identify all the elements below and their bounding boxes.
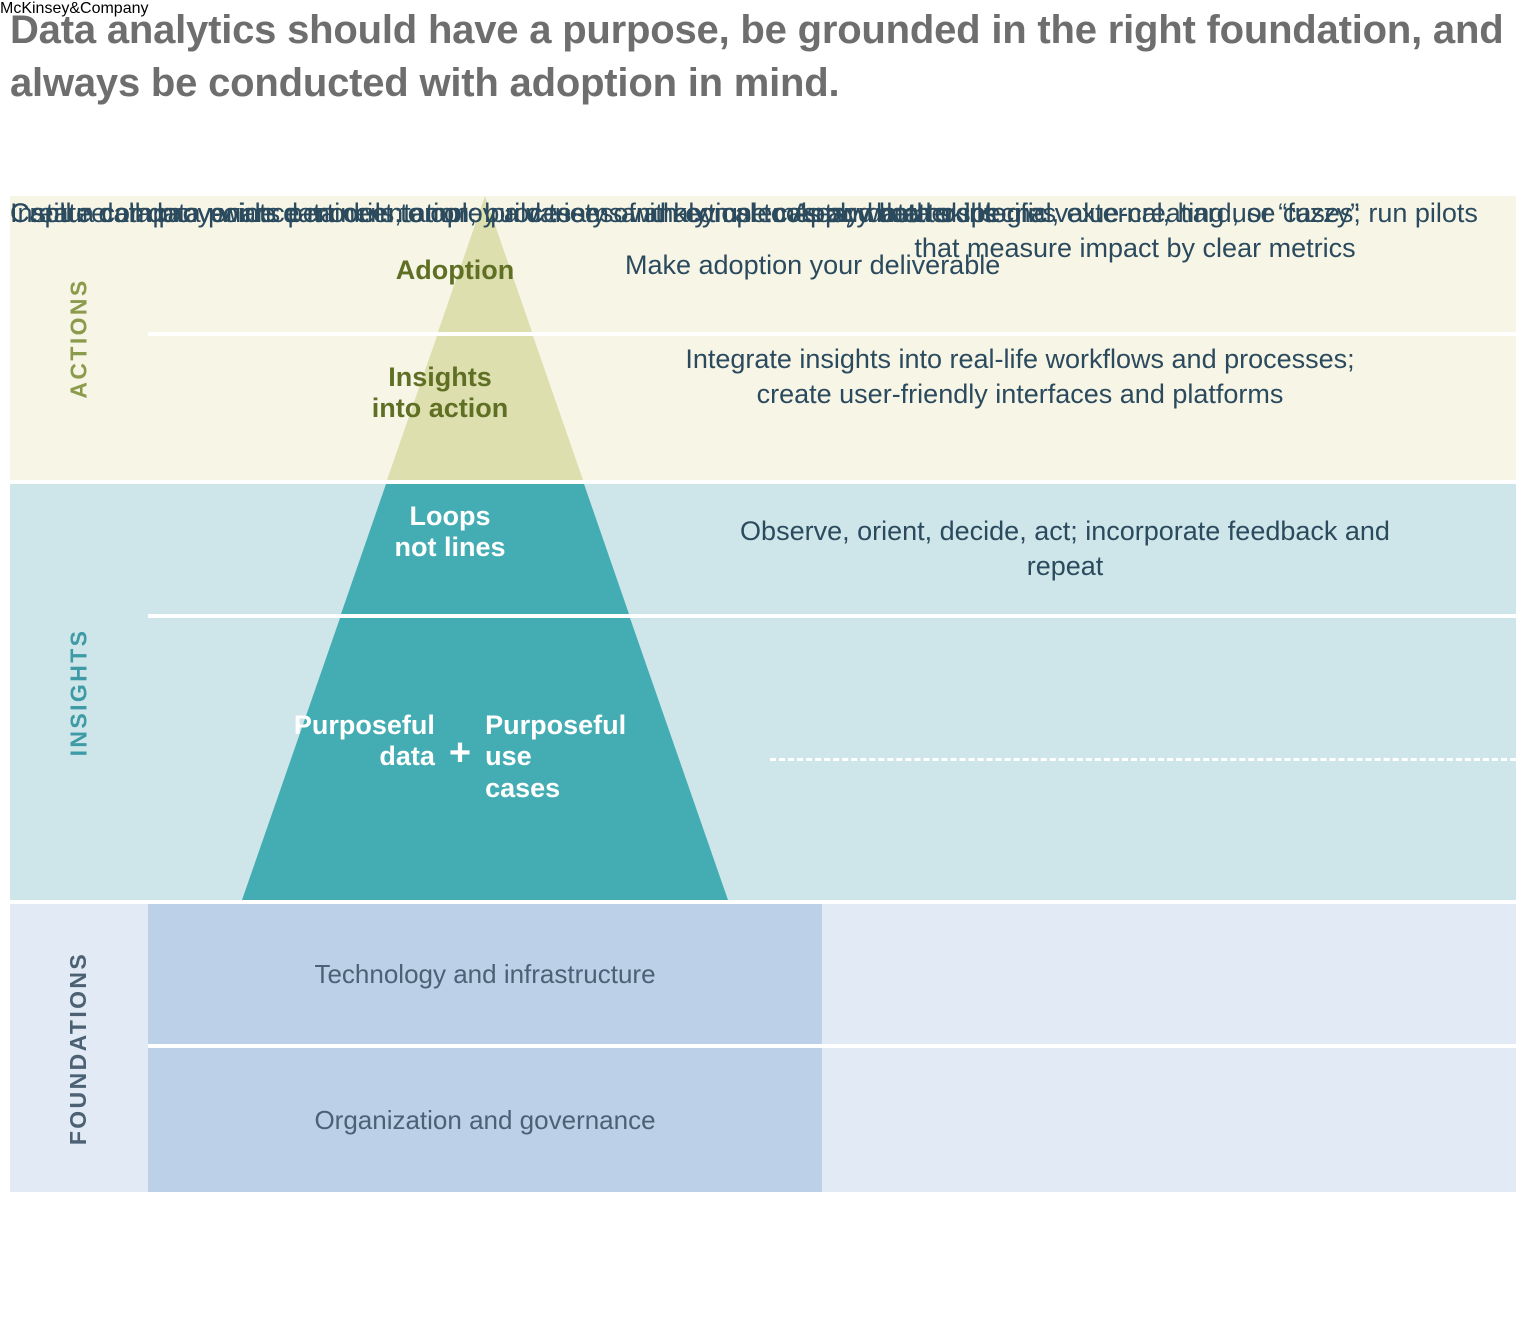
pyramid-diagram: ACTIONS INSIGHTS FOUNDATIONS Technology … (10, 196, 1516, 1192)
foundation-block-organization: Organization and governance (148, 1048, 822, 1192)
tier-label-purposeful: Purposeful data + Purposeful use cases (210, 696, 710, 804)
foundation-label-organization: Organization and governance (314, 1105, 655, 1136)
band-label-foundations: FOUNDATIONS (10, 904, 148, 1192)
band-label-foundations-text: FOUNDATIONS (66, 951, 93, 1144)
band-label-actions-text: ACTIONS (66, 278, 93, 398)
description-insights-action: Integrate insights into real-life workfl… (650, 342, 1390, 411)
foundation-label-technology: Technology and infrastructure (314, 959, 655, 990)
description-loops: Observe, orient, decide, act; incorporat… (715, 514, 1415, 583)
divider-actions-insights (148, 480, 1516, 484)
tier-label-loops: Loops not lines (305, 501, 595, 564)
divider-adoption-insights (148, 332, 1516, 336)
band-label-actions: ACTIONS (10, 196, 148, 480)
tier-label-purposeful-data: Purposeful data (294, 696, 435, 773)
tier-label-loops-text: Loops not lines (394, 501, 505, 562)
foundation-block-technology: Technology and infrastructure (148, 904, 822, 1044)
page-title: Data analytics should have a purpose, be… (10, 4, 1510, 110)
divider-loops-purposeful (148, 614, 1516, 618)
tier-label-insights-action: Insights into action (295, 362, 585, 425)
plus-icon: + (449, 696, 471, 772)
tier-label-adoption: Adoption (310, 255, 600, 286)
tier-label-insights-action-text: Insights into action (372, 362, 509, 423)
divider-apply-capture (770, 758, 1516, 761)
tier-label-purposeful-use-cases: Purposeful use cases (485, 696, 626, 804)
band-label-insights-text: INSIGHTS (65, 628, 92, 756)
description-organization: Instill a company-wide data orientation;… (10, 196, 996, 231)
band-label-insights: INSIGHTS (10, 484, 148, 900)
